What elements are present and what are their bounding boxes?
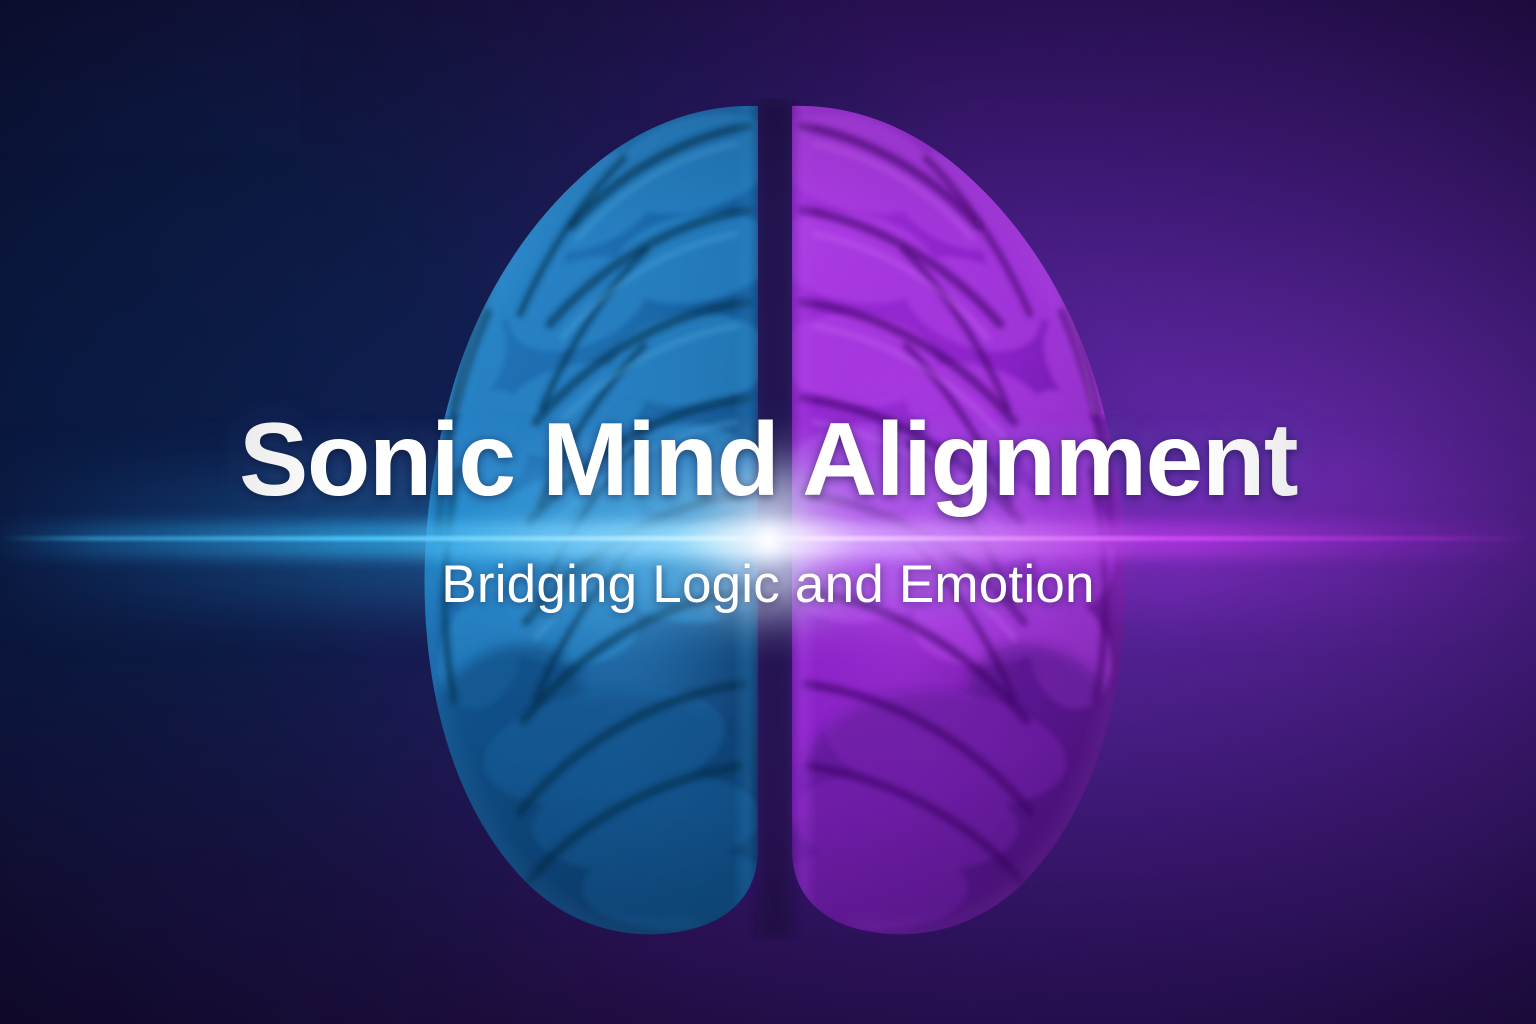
hero-banner: Sonic Mind Alignment Bridging Logic and …: [0, 0, 1536, 1024]
vignette-overlay: [0, 0, 1536, 1024]
